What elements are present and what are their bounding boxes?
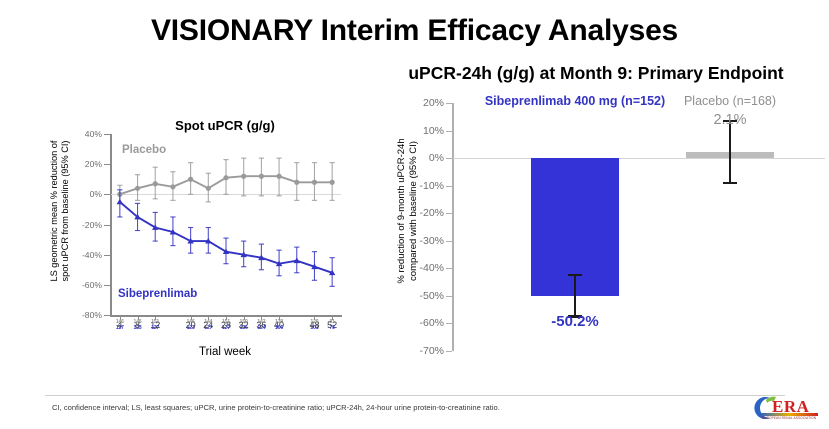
right-y-tick-label: -70% [402, 345, 444, 357]
right-chart-y-axis [452, 103, 454, 351]
right-chart-upcr24h: % reduction of 9-month uPCR-24h compared… [380, 95, 820, 375]
footer-divider [45, 395, 785, 396]
right-value-placebo: 2.1% [650, 112, 810, 128]
left-n-count-value: 123 [187, 325, 195, 331]
right-y-tick-mark [446, 213, 452, 214]
right-y-tick-mark [446, 103, 452, 104]
right-legend-placebo: Placebo (n=168) [650, 94, 810, 109]
right-y-tick-label: -10% [402, 180, 444, 192]
right-legend-sibeprenlimab: Sibeprenlimab 400 mg (n=152) [475, 94, 675, 109]
left-n-count-value: 123 [134, 325, 142, 331]
right-y-tick-mark [446, 296, 452, 297]
right-chart-error-cap [723, 182, 737, 185]
right-y-tick-mark [446, 268, 452, 269]
right-y-tick-label: 0% [402, 152, 444, 164]
right-chart-error-cap [568, 274, 582, 277]
left-n-count-value: 127 [222, 325, 230, 331]
right-y-tick-mark [446, 241, 452, 242]
left-chart-spot-upcr: Spot uPCR (g/g) LS geometric mean % redu… [40, 108, 360, 368]
right-y-tick-label: -30% [402, 235, 444, 247]
left-legend-sibeprenlimab: Sibeprenlimab [118, 288, 197, 300]
right-chart-error-bar [729, 121, 732, 183]
right-y-tick-label: 10% [402, 125, 444, 137]
left-n-count-value: 127 [116, 325, 124, 331]
right-value-sibeprenlimab: -50.2% [475, 313, 675, 330]
right-y-tick-label: -50% [402, 290, 444, 302]
right-y-tick-label: -20% [402, 207, 444, 219]
right-legend-sibe-line1: Sibeprenlimab 400 mg [485, 94, 618, 108]
right-chart-title: uPCR-24h (g/g) at Month 9: Primary Endpo… [363, 63, 829, 84]
right-y-tick-label: -40% [402, 262, 444, 274]
right-y-tick-mark [446, 351, 452, 352]
right-y-tick-mark [446, 131, 452, 132]
left-chart-x-axis-label: Trial week [100, 346, 350, 358]
right-y-tick-mark [446, 323, 452, 324]
slide-root: VISIONARY Interim Efficacy Analyses Spot… [0, 0, 829, 429]
left-n-count-value: 75 [329, 325, 334, 331]
left-n-count-value: 127 [151, 325, 159, 331]
left-n-count-value: 124 [257, 325, 265, 331]
left-n-count-value: 126 [240, 325, 248, 331]
right-y-tick-label: 20% [402, 97, 444, 109]
era-logo: ERA EUROPEAN RENAL ASSOCIATION [752, 392, 824, 426]
era-logo-subtitle: EUROPEAN RENAL ASSOCIATION [762, 416, 816, 420]
page-title: VISIONARY Interim Efficacy Analyses [0, 14, 829, 48]
footnote-abbreviations: CI, confidence interval; LS, least squar… [52, 403, 500, 412]
left-n-count-value: 106 [275, 325, 283, 331]
left-n-count-value: 101 [310, 325, 318, 331]
right-chart-error-bar [574, 275, 577, 316]
left-n-count-value: 127 [204, 325, 212, 331]
left-legend-placebo: Placebo [122, 144, 166, 156]
right-y-tick-mark [446, 158, 452, 159]
right-y-tick-mark [446, 186, 452, 187]
right-y-tick-label: -60% [402, 317, 444, 329]
